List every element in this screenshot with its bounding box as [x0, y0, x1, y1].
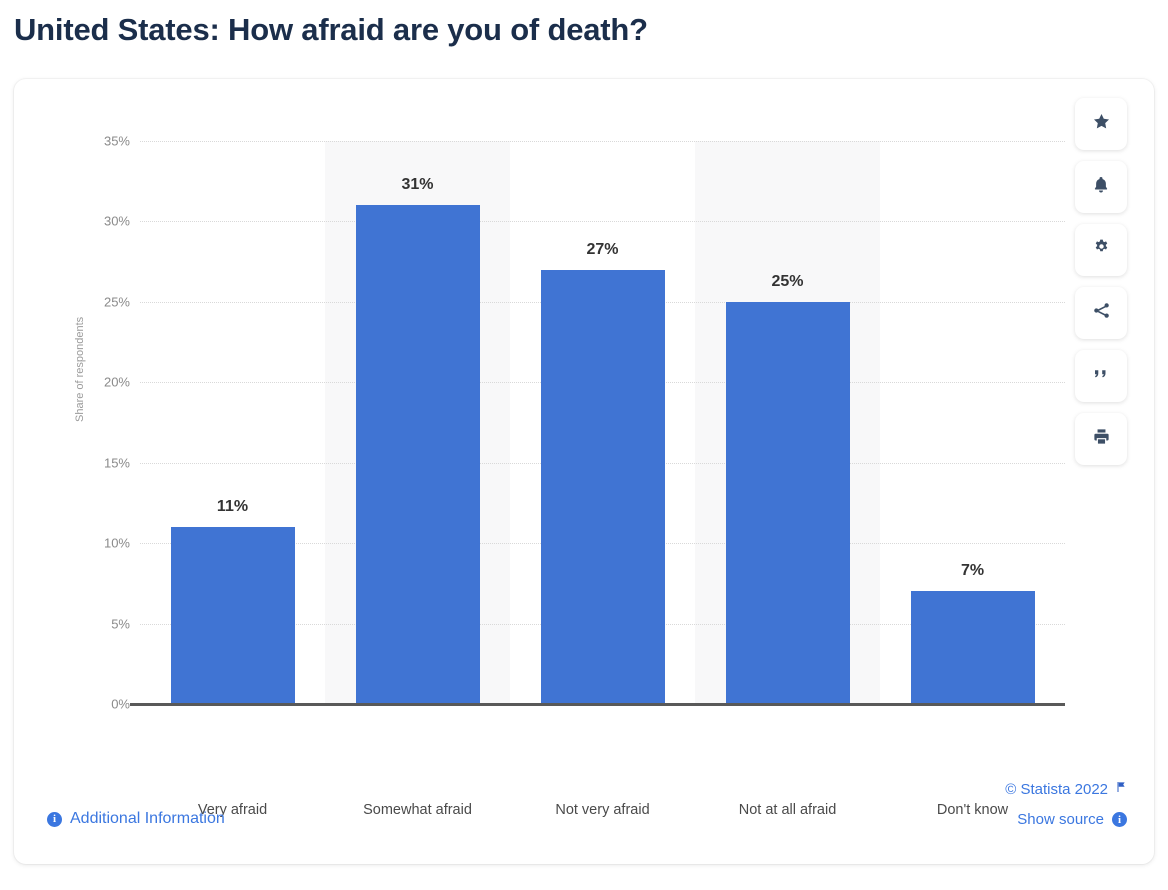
gridline [140, 221, 1065, 222]
share-button[interactable] [1075, 287, 1127, 339]
bar[interactable] [911, 591, 1035, 704]
star-icon [1092, 112, 1111, 136]
page-title: United States: How afraid are you of dea… [14, 12, 648, 48]
gridline [140, 141, 1065, 142]
info-icon: i [1112, 812, 1127, 827]
show-source-label: Show source [1017, 811, 1104, 828]
favorite-button[interactable] [1075, 98, 1127, 150]
bar-value-label: 11% [171, 498, 295, 516]
bar[interactable] [541, 270, 665, 704]
copyright: © Statista 2022 [1005, 780, 1127, 798]
info-icon: i [47, 812, 62, 827]
share-icon [1092, 301, 1111, 325]
gear-icon [1092, 238, 1111, 262]
print-icon [1092, 427, 1111, 451]
chart-toolbar [1075, 98, 1131, 476]
cite-button[interactable] [1075, 350, 1127, 402]
bar[interactable] [726, 302, 850, 704]
bar-value-label: 31% [356, 176, 480, 194]
chart-card: Share of respondents 0%5%10%15%20%25%30%… [14, 79, 1154, 864]
bar[interactable] [356, 205, 480, 704]
y-tick-label: 0% [111, 697, 130, 712]
notification-button[interactable] [1075, 161, 1127, 213]
copyright-text: © Statista 2022 [1005, 781, 1108, 798]
bell-icon [1092, 175, 1110, 199]
y-tick-label: 10% [104, 536, 130, 551]
y-tick-label: 35% [104, 134, 130, 149]
y-tick-label: 5% [111, 616, 130, 631]
bar-value-label: 25% [726, 273, 850, 291]
plot-area: 11%31%27%25%7% [140, 141, 1065, 704]
x-axis-line [130, 703, 1065, 706]
quote-icon [1092, 365, 1110, 388]
y-tick-label: 15% [104, 455, 130, 470]
bar-value-label: 7% [911, 562, 1035, 580]
bar[interactable] [171, 527, 295, 704]
print-button[interactable] [1075, 413, 1127, 465]
additional-information-label: Additional Information [70, 810, 225, 828]
settings-button[interactable] [1075, 224, 1127, 276]
y-axis-tick-labels: 0%5%10%15%20%25%30%35% [92, 141, 130, 704]
y-tick-label: 20% [104, 375, 130, 390]
flag-icon[interactable] [1115, 780, 1127, 798]
bar-value-label: 27% [541, 241, 665, 259]
y-axis-title: Share of respondents [74, 317, 86, 422]
y-tick-label: 25% [104, 294, 130, 309]
y-tick-label: 30% [104, 214, 130, 229]
show-source-link[interactable]: Show source i [1017, 811, 1127, 828]
card-footer: i Additional Information Show source i [14, 810, 1154, 838]
additional-information-link[interactable]: i Additional Information [47, 810, 225, 828]
